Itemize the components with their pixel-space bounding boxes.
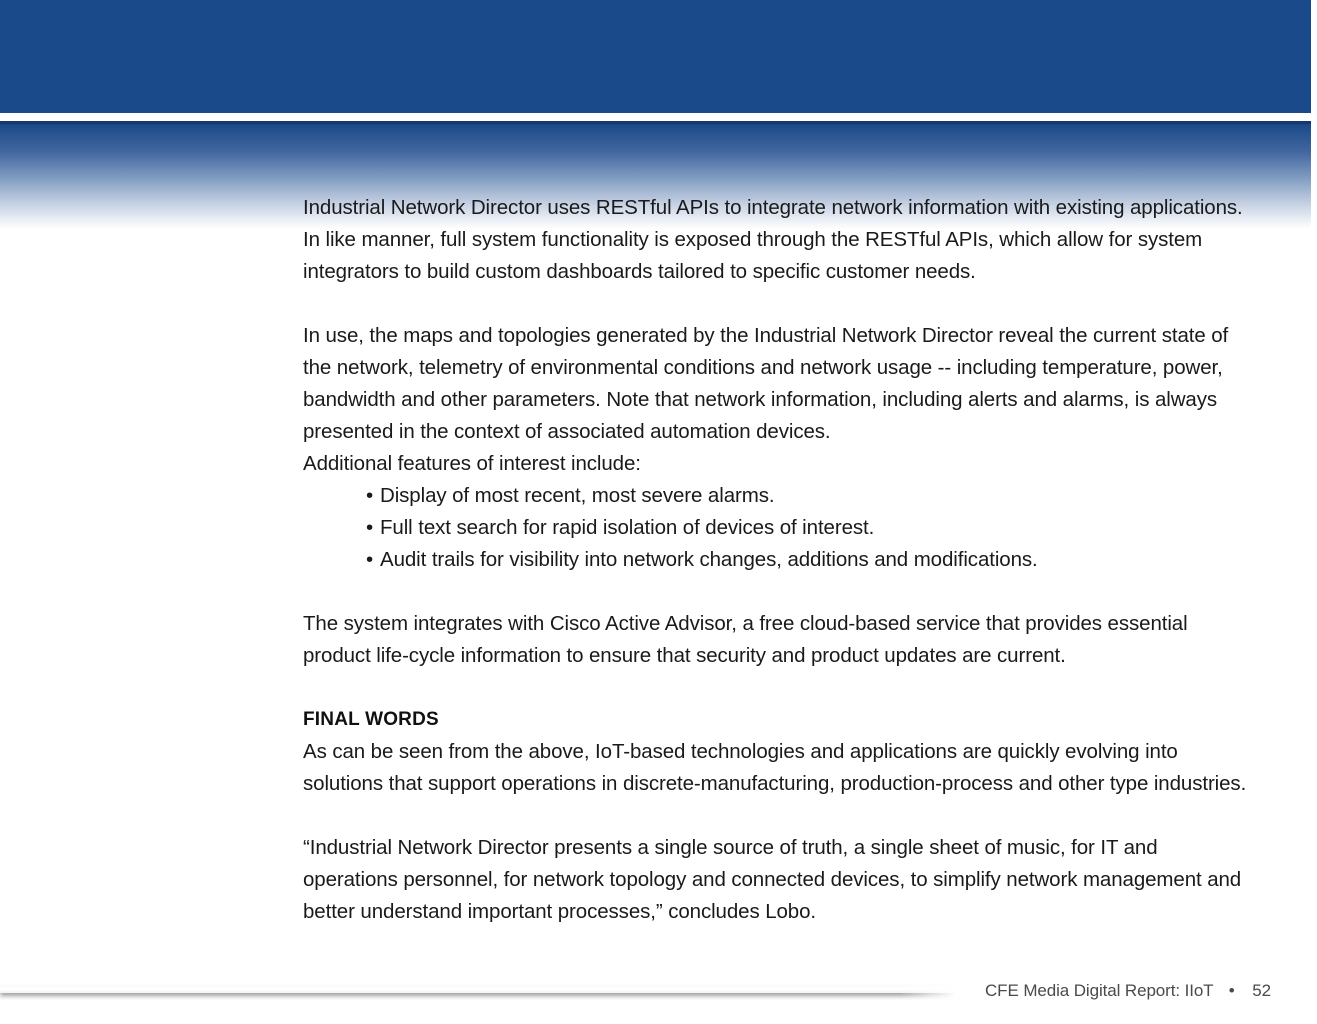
paragraph-list-intro: Additional features of interest include: [303,448,1253,480]
footer-rule [0,986,965,993]
paragraph-restful-apis: Industrial Network Director uses RESTful… [303,192,1253,288]
list-item: • Audit trails for visibility into netwo… [366,544,1253,576]
footer-separator-icon: • [1229,980,1235,1002]
paragraph-closing-quote: “Industrial Network Director presents a … [303,832,1253,928]
list-item: • Full text search for rapid isolation o… [366,512,1253,544]
document-page: Industrial Network Director uses RESTful… [0,0,1317,1024]
features-bullet-list: • Display of most recent, most severe al… [303,480,1253,576]
article-body: Industrial Network Director uses RESTful… [303,192,1253,928]
bullet-icon: • [366,544,373,576]
list-item-label: Audit trails for visibility into network… [380,548,1038,571]
footer-rule-fade [900,980,980,1002]
header-blue-band [0,0,1311,113]
footer: CFE Media Digital Report: IIoT • 52 [985,980,1271,1002]
list-item: • Display of most recent, most severe al… [366,480,1253,512]
bullet-icon: • [366,480,373,512]
paragraph-iot-solutions: As can be seen from the above, IoT-based… [303,736,1253,800]
bullet-icon: • [366,512,373,544]
header-gradient-top-edge [0,121,1311,124]
list-item-label: Display of most recent, most severe alar… [380,484,774,507]
list-item-label: Full text search for rapid isolation of … [380,516,874,539]
header-white-gap [0,113,1311,121]
paragraph-cisco-active-advisor: The system integrates with Cisco Active … [303,608,1253,672]
section-heading-final-words: FINAL WORDS [303,704,1253,736]
paragraph-maps-topologies: In use, the maps and topologies generate… [303,320,1253,448]
page-number: 52 [1252,980,1271,1002]
footer-publication-label: CFE Media Digital Report: IIoT [985,981,1213,1000]
